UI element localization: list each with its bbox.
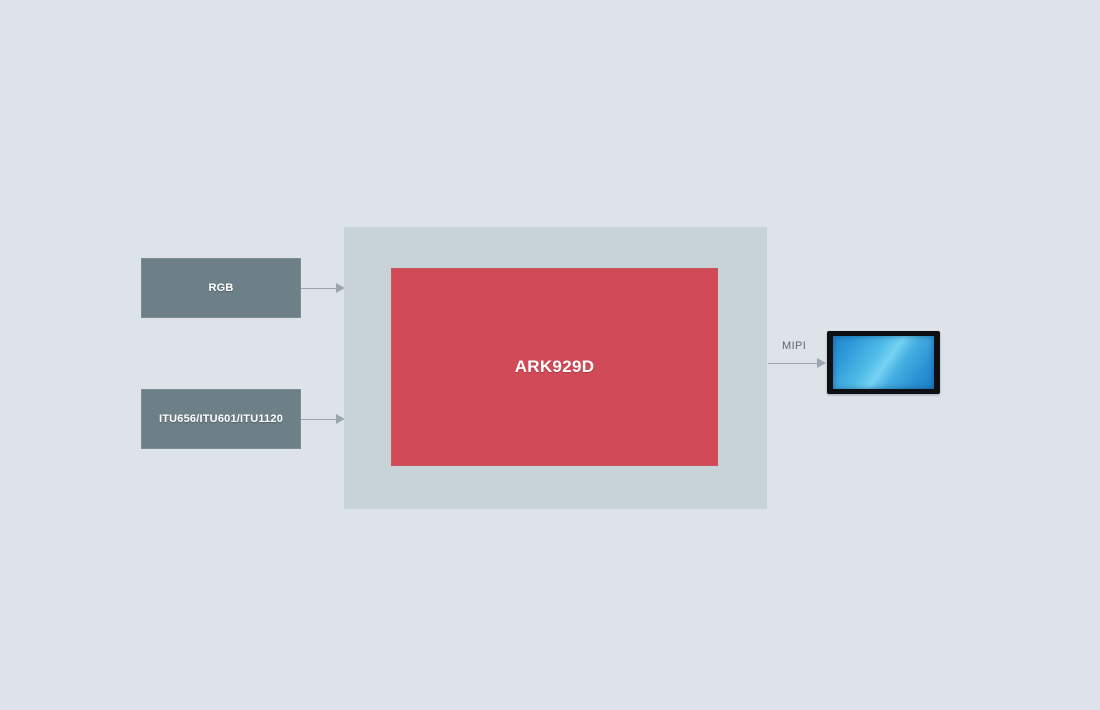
arrow-shaft (301, 288, 336, 289)
input-block-itu-label: ITU656/ITU601/ITU1120 (159, 413, 283, 425)
input-block-itu[interactable]: ITU656/ITU601/ITU1120 (141, 389, 301, 449)
edge-label-mipi: MIPI (782, 340, 806, 352)
arrow-itu-to-chip (301, 413, 345, 425)
chip-block-ark929d[interactable]: ARK929D (391, 268, 718, 466)
arrow-rgb-to-chip (301, 282, 345, 294)
display-monitor-icon[interactable] (827, 331, 940, 394)
monitor-screen (833, 336, 934, 389)
arrowhead-icon (817, 358, 826, 368)
arrow-chip-to-display (768, 357, 826, 369)
chip-block-label: ARK929D (515, 357, 595, 377)
diagram-canvas: RGB ITU656/ITU601/ITU1120 ARK929D MIPI (0, 0, 1100, 710)
arrow-shaft (301, 419, 336, 420)
arrow-shaft (768, 363, 817, 364)
input-block-rgb[interactable]: RGB (141, 258, 301, 318)
input-block-rgb-label: RGB (208, 282, 233, 294)
